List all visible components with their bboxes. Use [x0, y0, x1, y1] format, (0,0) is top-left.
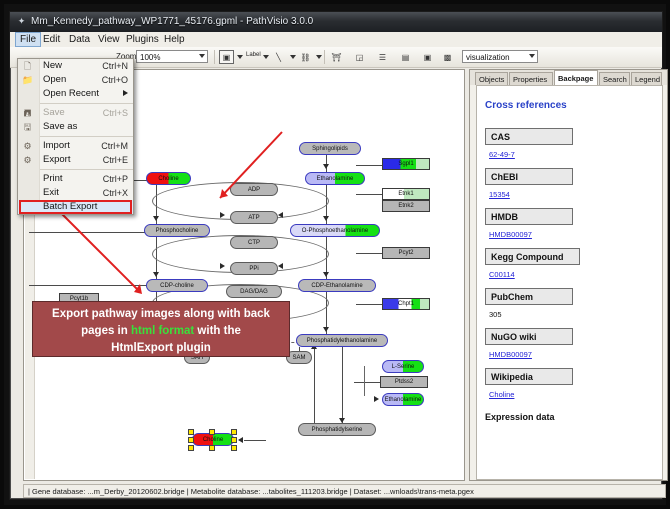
label-dropdown-icon[interactable] — [263, 55, 269, 59]
backpage-content[interactable]: Cross references CAS 62-49-7 ChEBI 15354… — [476, 85, 663, 480]
stack-icon[interactable]: ☰ — [375, 50, 390, 64]
toolbar-separator-2 — [324, 50, 325, 64]
menu-item-new-accel: Ctrl+N — [102, 59, 128, 73]
menu-item-new[interactable]: 🗋 New Ctrl+N — [18, 59, 133, 73]
menu-item-save-label: Save — [43, 106, 65, 120]
side-panel-tabs: Objects Properties Backpage Search Legen… — [470, 70, 667, 85]
tab-objects[interactable]: Objects — [475, 72, 508, 85]
export-icon: ⚙ — [22, 155, 33, 166]
xref-value-pubchem: 305 — [489, 310, 502, 319]
xref-db-cas: CAS — [485, 128, 573, 145]
file-menu-dropdown[interactable]: 🗋 New Ctrl+N 📁 Open Ctrl+O Open Recent 🖪… — [17, 58, 134, 215]
menu-item-save-as-label: Save as — [43, 120, 77, 134]
menu-item-export[interactable]: ⚙ Export Ctrl+E — [18, 153, 133, 167]
menu-item-exit-accel: Ctrl+X — [103, 186, 128, 200]
side-panel: Objects Properties Backpage Search Legen… — [469, 69, 668, 481]
menu-edit[interactable]: Edit — [39, 33, 64, 46]
menu-item-exit-label: Exit — [43, 186, 59, 200]
menu-plugins[interactable]: Plugins — [122, 33, 163, 46]
menu-item-print[interactable]: Print Ctrl+P — [18, 172, 133, 186]
menu-view[interactable]: View — [94, 33, 124, 46]
save-icon: 🖪 — [22, 108, 33, 119]
menu-help[interactable]: Help — [160, 33, 189, 46]
menu-item-import-label: Import — [43, 139, 70, 153]
menu-item-save-as[interactable]: 🖫 Save as — [18, 120, 133, 134]
xref-db-chebi: ChEBI — [485, 168, 573, 185]
menu-bar: File Edit Data View Plugins Help — [10, 32, 662, 48]
menu-item-export-label: Export — [43, 153, 70, 167]
import-icon: ⚙ — [22, 141, 33, 152]
interaction-dropdown-icon[interactable] — [316, 55, 322, 59]
tab-backpage[interactable]: Backpage — [554, 70, 598, 85]
menu-item-open[interactable]: 📁 Open Ctrl+O — [18, 73, 133, 87]
chevron-down-icon-2 — [529, 54, 535, 58]
xref-value-chebi[interactable]: 15354 — [489, 190, 510, 199]
menu-data[interactable]: Data — [65, 33, 94, 46]
expression-data-heading: Expression data — [485, 412, 555, 422]
bring-front-icon[interactable]: ▩ — [440, 50, 455, 64]
visualization-value: visualization — [466, 53, 510, 62]
align-left-icon[interactable]: ◲ — [352, 50, 367, 64]
save-as-icon: 🖫 — [22, 122, 33, 133]
chevron-down-icon — [199, 54, 205, 58]
menu-item-exit[interactable]: Exit Ctrl+X — [18, 186, 133, 200]
menu-separator-1 — [39, 103, 133, 104]
chevron-right-icon — [123, 90, 128, 96]
interaction-icon[interactable]: ⛓ — [298, 50, 313, 64]
tab-search[interactable]: Search — [599, 72, 630, 85]
title-bar: ✦ Mm_Kennedy_pathway_WP1771_45176.gpml -… — [10, 12, 662, 33]
menu-item-open-accel: Ctrl+O — [102, 73, 128, 87]
xref-db-kegg: Kegg Compound — [485, 248, 580, 265]
label-tool-label[interactable]: Label — [246, 52, 261, 58]
xref-db-wikipedia: Wikipedia — [485, 368, 573, 385]
datanode-dropdown-icon[interactable] — [237, 55, 243, 59]
menu-item-open-label: Open — [43, 73, 66, 87]
menu-separator-2 — [39, 136, 133, 137]
xref-value-nugo[interactable]: HMDB00097 — [489, 350, 532, 359]
xref-db-pubchem: PubChem — [485, 288, 573, 305]
line-dropdown-icon[interactable] — [290, 55, 296, 59]
menu-item-import-accel: Ctrl+M — [101, 139, 128, 153]
status-bar: | Gene database: ...m_Derby_20120602.bri… — [23, 484, 666, 498]
visualization-combo[interactable]: visualization — [462, 50, 538, 63]
tab-properties[interactable]: Properties — [509, 72, 553, 85]
screenshot-root: ✦ Mm_Kennedy_pathway_WP1771_45176.gpml -… — [0, 0, 670, 509]
xref-value-cas[interactable]: 62-49-7 — [489, 150, 515, 159]
window-title: Mm_Kennedy_pathway_WP1771_45176.gpml - P… — [31, 15, 313, 29]
menu-file[interactable]: File — [15, 32, 41, 47]
xref-value-hmdb[interactable]: HMDB00097 — [489, 230, 532, 239]
menu-item-save: 🖪 Save Ctrl+S — [18, 106, 133, 120]
open-folder-icon: 📁 — [22, 75, 33, 86]
zoom-value: 100% — [140, 53, 160, 62]
zoom-combo[interactable]: 100% — [136, 50, 208, 63]
menu-item-print-label: Print — [43, 172, 63, 186]
menu-item-save-accel: Ctrl+S — [103, 106, 128, 120]
align-top-icon[interactable]: ⛩ — [329, 50, 344, 64]
new-file-icon: 🗋 — [22, 61, 33, 72]
cross-references-heading: Cross references — [485, 100, 567, 111]
pathvisio-icon: ✦ — [16, 16, 27, 27]
datanode-icon[interactable]: ▣ — [219, 50, 234, 64]
xref-value-wikipedia[interactable]: Choline — [489, 390, 514, 399]
menu-item-export-accel: Ctrl+E — [103, 153, 128, 167]
distribute-icon[interactable]: ▤ — [398, 50, 413, 64]
xref-db-nugo: NuGO wiki — [485, 328, 573, 345]
menu-item-open-recent[interactable]: Open Recent — [18, 87, 133, 101]
common-width-icon[interactable]: ▣ — [420, 50, 435, 64]
menu-item-import[interactable]: ⚙ Import Ctrl+M — [18, 139, 133, 153]
menu-separator-3 — [39, 169, 133, 170]
menu-item-open-recent-label: Open Recent — [43, 87, 99, 101]
xref-value-kegg[interactable]: C00114 — [489, 270, 515, 279]
menu-item-new-label: New — [43, 59, 62, 73]
menu-item-batch-export[interactable]: Batch Export — [18, 200, 133, 214]
xref-db-hmdb: HMDB — [485, 208, 573, 225]
menu-item-batch-export-label: Batch Export — [43, 200, 97, 214]
application-window: ✦ Mm_Kennedy_pathway_WP1771_45176.gpml -… — [9, 11, 663, 500]
tab-legend[interactable]: Legend — [631, 72, 662, 85]
toolbar-separator — [214, 50, 215, 64]
line-icon[interactable]: ╲ — [271, 50, 286, 64]
menu-item-print-accel: Ctrl+P — [103, 172, 128, 186]
